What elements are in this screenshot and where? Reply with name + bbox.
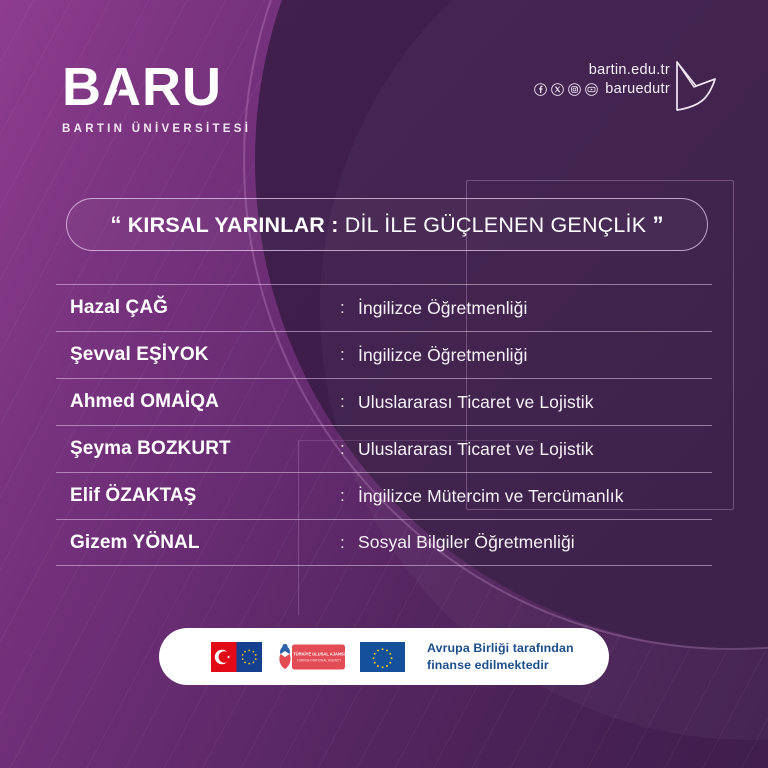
row-colon: : xyxy=(340,486,358,506)
bird-logo-icon xyxy=(674,60,716,112)
table-row: Ahmed OMAİQA : Uluslararası Ticaret ve L… xyxy=(56,378,712,425)
social-handles-row: baruedutr xyxy=(534,81,670,97)
participant-table: Hazal ÇAĞ : İngilizce Öğretmenliği Şevva… xyxy=(56,284,712,566)
row-colon: : xyxy=(340,298,358,318)
table-row: Gizem YÖNAL : Sosyal Bilgiler Öğretmenli… xyxy=(56,519,712,566)
x-twitter-icon[interactable] xyxy=(551,83,564,96)
social-handle[interactable]: baruedutr xyxy=(605,81,670,97)
participant-name: Ahmed OMAİQA xyxy=(56,391,340,413)
participant-department: Uluslararası Ticaret ve Lojistik xyxy=(358,392,594,413)
eu-flag xyxy=(360,642,405,672)
table-row: Hazal ÇAĞ : İngilizce Öğretmenliği xyxy=(56,284,712,331)
lightning-bolt-icon xyxy=(111,84,124,114)
website-url[interactable]: bartin.edu.tr xyxy=(534,62,670,78)
poster-canvas: BARU BARTIN ÜNİVERSİTESİ bartin.edu.tr xyxy=(0,0,768,768)
participant-name: Şeyma BOZKURT xyxy=(56,438,340,460)
row-colon: : xyxy=(340,345,358,365)
open-quote: “ xyxy=(110,212,121,237)
funding-text: Avrupa Birliği tarafından finanse edilme… xyxy=(427,640,574,673)
turkish-national-agency-logo: TÜRKİYE ULUSAL AJANSI TURKISH NATIONAL A… xyxy=(276,642,346,672)
facebook-icon[interactable] xyxy=(534,83,547,96)
contact-block: bartin.edu.tr xyxy=(534,62,670,97)
participant-name: Hazal ÇAĞ xyxy=(56,297,340,319)
baru-logo: BARU BARTIN ÜNİVERSİTESİ xyxy=(62,60,251,135)
title-normal-part: DİL İLE GÜÇLENEN GENÇLİK xyxy=(345,213,647,237)
participant-department: İngilizce Öğretmenliği xyxy=(358,345,528,366)
participant-name: Gizem YÖNAL xyxy=(56,532,340,554)
participant-department: İngilizce Öğretmenliği xyxy=(358,298,528,319)
participant-name: Elif ÖZAKTAŞ xyxy=(56,485,340,507)
participant-name: Şevval EŞİYOK xyxy=(56,344,340,366)
instagram-icon[interactable] xyxy=(568,83,581,96)
table-row: Elif ÖZAKTAŞ : İngilizce Mütercim ve Ter… xyxy=(56,472,712,519)
logo-wordmark: BARU xyxy=(62,60,251,114)
close-quote: ” xyxy=(652,212,663,237)
poster-header: BARU BARTIN ÜNİVERSİTESİ bartin.edu.tr xyxy=(0,0,768,160)
table-row: Şevval EŞİYOK : İngilizce Öğretmenliği xyxy=(56,331,712,378)
table-row: Şeyma BOZKURT : Uluslararası Ticaret ve … xyxy=(56,425,712,472)
logo-subtitle: BARTIN ÜNİVERSİTESİ xyxy=(62,123,251,135)
svg-text:TÜRKİYE ULUSAL AJANSI: TÜRKİYE ULUSAL AJANSI xyxy=(293,651,345,656)
funding-text-line2: finanse edilmektedir xyxy=(427,657,574,674)
youtube-icon[interactable] xyxy=(585,83,598,96)
row-colon: : xyxy=(340,392,358,412)
participant-department: Uluslararası Ticaret ve Lojistik xyxy=(358,439,594,460)
funding-footer-badge: TÜRKİYE ULUSAL AJANSI TURKISH NATIONAL A… xyxy=(159,628,609,685)
svg-text:TURKISH NATIONAL AGENCY: TURKISH NATIONAL AGENCY xyxy=(297,658,343,662)
turkey-eu-flag xyxy=(211,642,262,672)
title-text: “ KIRSAL YARINLAR : DİL İLE GÜÇLENEN GEN… xyxy=(110,212,663,238)
participant-department: Sosyal Bilgiler Öğretmenliği xyxy=(358,532,575,553)
title-banner: “ KIRSAL YARINLAR : DİL İLE GÜÇLENEN GEN… xyxy=(66,198,708,251)
title-bold-part: KIRSAL YARINLAR : xyxy=(128,213,339,237)
row-colon: : xyxy=(340,439,358,459)
participant-department: İngilizce Mütercim ve Tercümanlık xyxy=(358,486,624,507)
row-colon: : xyxy=(340,533,358,553)
funding-text-line1: Avrupa Birliği tarafından xyxy=(427,640,574,657)
